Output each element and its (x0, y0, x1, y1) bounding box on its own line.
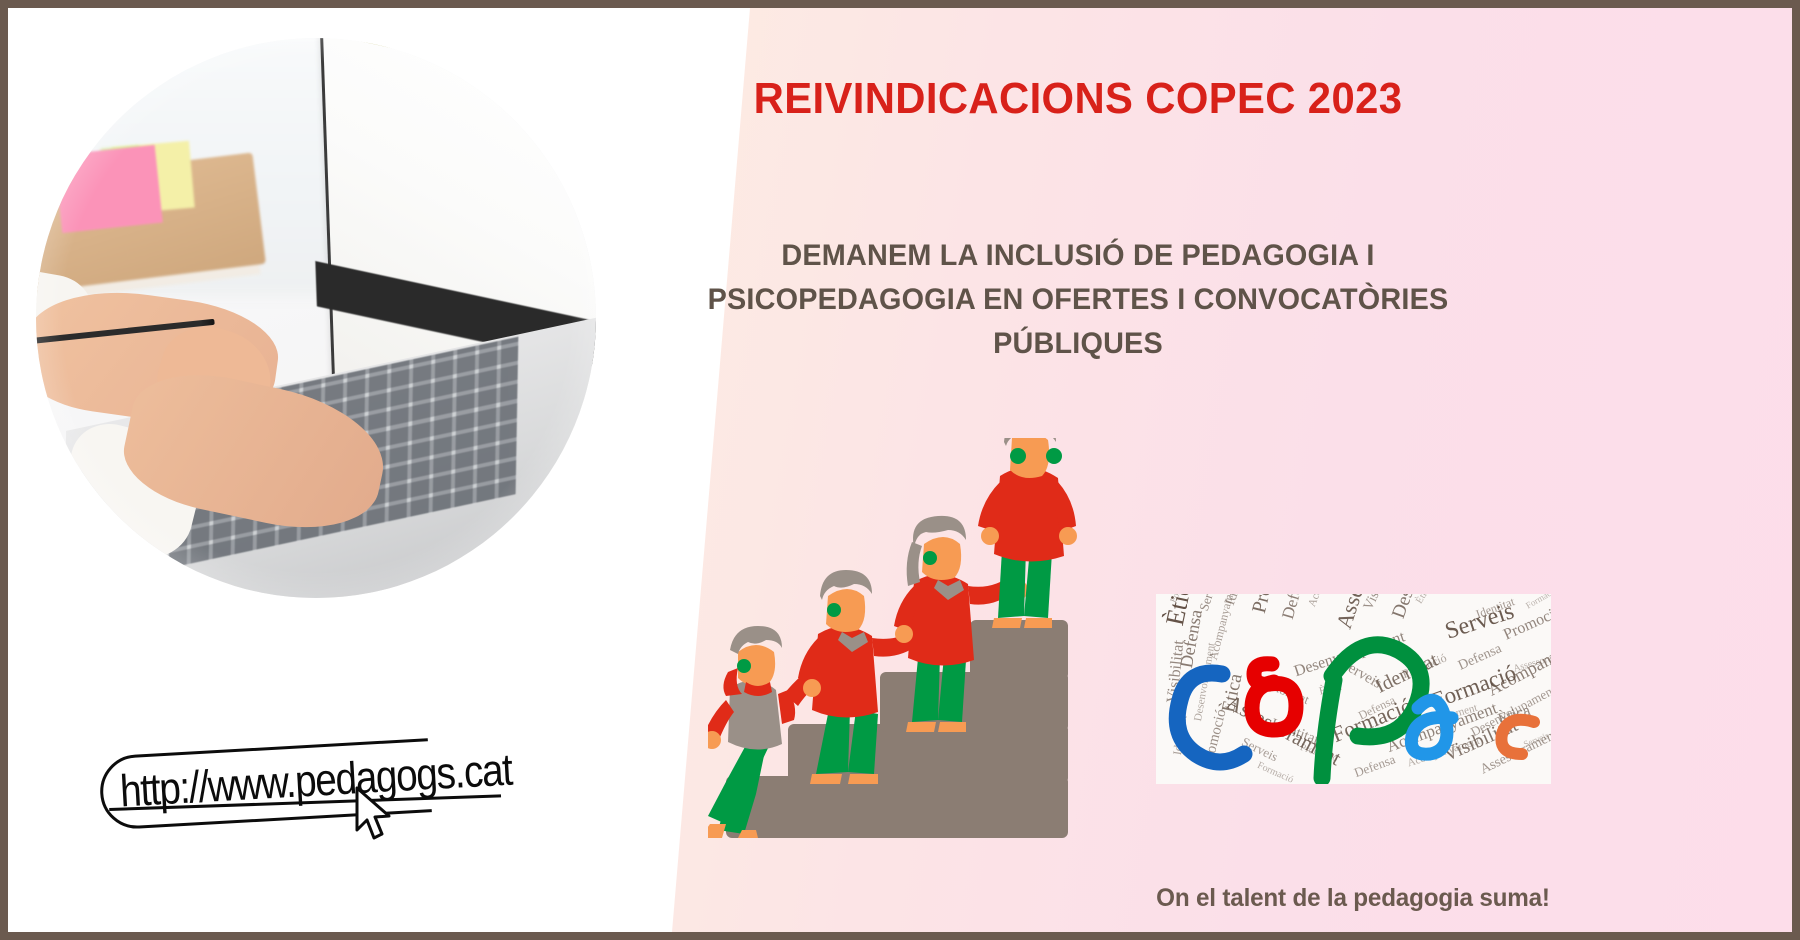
subtitle-line-1: DEMANEM LA INCLUSIÓ DE PEDAGOGIA I (675, 234, 1481, 278)
poster-subtitle: DEMANEM LA INCLUSIÓ DE PEDAGOGIA I PSICO… (675, 234, 1481, 366)
poster-canvas: http://www.pedagogs.cat REIVINDICACIONS … (8, 8, 1792, 932)
logo-letters-svg (1156, 594, 1551, 784)
subtitle-line-2: PSICOPEDAGOGIA EN OFERTES I CONVOCATÒRIE… (675, 278, 1481, 322)
copec-logo: ÈticaServeisIdentitatPromocióFormacióDef… (1156, 594, 1551, 784)
subtitle-line-3: PÚBLIQUES (675, 322, 1481, 366)
logo-tagline: On el talent de la pedagogia suma! (1096, 884, 1610, 913)
photo-vignette (36, 38, 596, 598)
poster-title: REIVINDICACIONS COPEC 2023 (727, 74, 1430, 124)
people-climbing-stairs-illustration (708, 438, 1108, 838)
mouse-pointer-icon (353, 786, 399, 842)
illustration-svg (708, 438, 1108, 838)
poster-root: http://www.pedagogs.cat REIVINDICACIONS … (0, 0, 1800, 940)
laptop-photo-circle (36, 38, 596, 598)
